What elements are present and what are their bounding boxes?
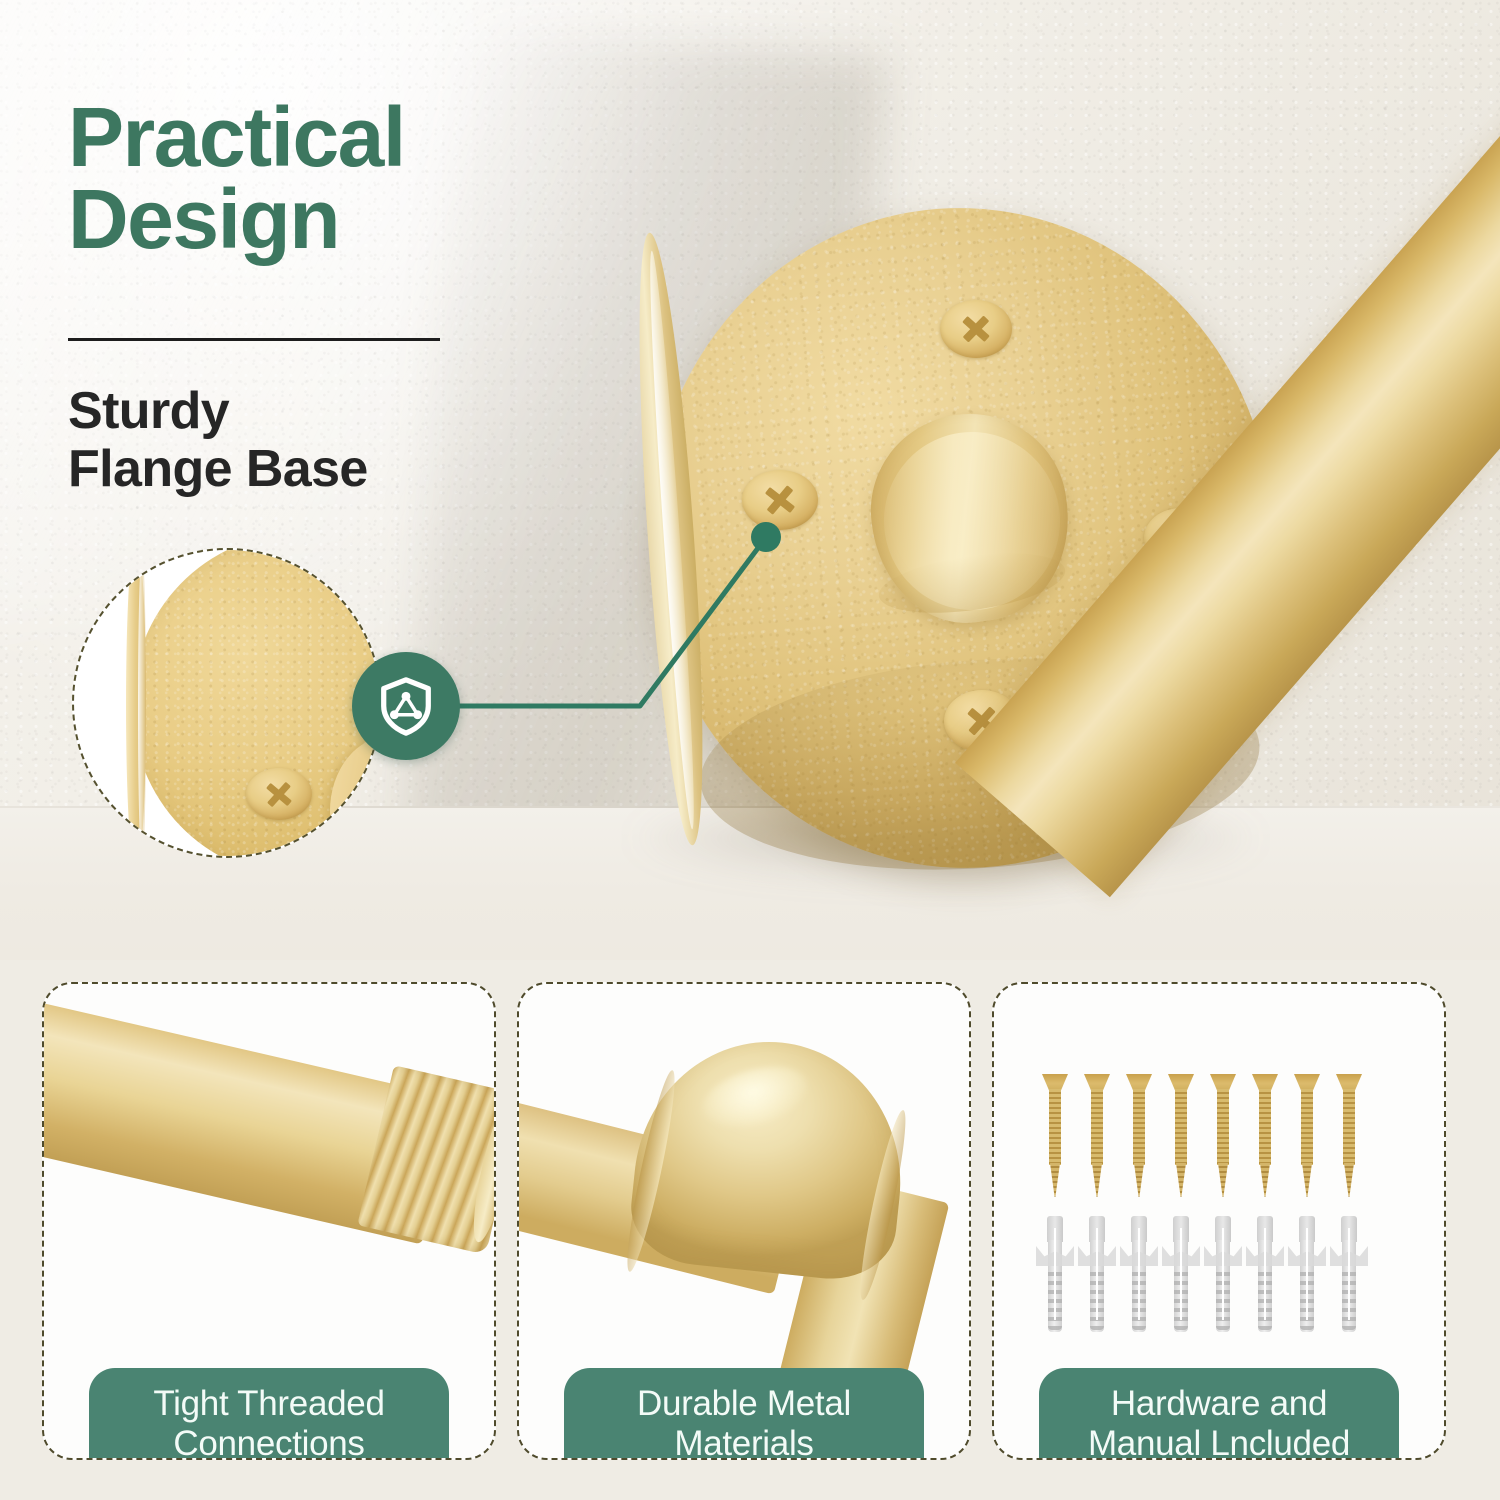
feature-label-materials: Durable Metal Materials <box>564 1368 924 1460</box>
screw-tip <box>1092 1163 1102 1197</box>
label-line-2: Connections <box>173 1424 364 1460</box>
hardware-screw <box>1294 1074 1320 1198</box>
screw-shaft <box>1259 1089 1271 1165</box>
screw-tip <box>1344 1163 1354 1197</box>
feature-card-materials[interactable]: Durable Metal Materials <box>517 982 971 1460</box>
anchor-slot <box>1222 1228 1224 1320</box>
product-infographic: Practical Design Sturdy Flange Base <box>0 0 1500 1500</box>
hardware-screw <box>1084 1074 1110 1198</box>
hardware-screw <box>1126 1074 1152 1198</box>
flange-screw-left <box>742 470 818 530</box>
screw-shaft <box>1049 1089 1061 1165</box>
wall-anchor <box>1294 1216 1320 1332</box>
wall-anchor <box>1336 1216 1362 1332</box>
anchor-slot <box>1096 1228 1098 1320</box>
label-line-1: Tight Threaded <box>153 1384 384 1423</box>
screw-shaft <box>1175 1089 1187 1165</box>
hardware-screw <box>1042 1074 1068 1198</box>
shield-outline <box>384 680 429 733</box>
inset-screw <box>246 768 312 820</box>
screw-shaft <box>1301 1089 1313 1165</box>
screw-tip <box>1176 1163 1186 1197</box>
screw-tip <box>1302 1163 1312 1197</box>
feature-label-hardware: Hardware and Manual Lncluded <box>1039 1368 1399 1460</box>
wall-anchor <box>1168 1216 1194 1332</box>
anchor-slot <box>1138 1228 1140 1320</box>
screw-tip <box>1260 1163 1270 1197</box>
label-line-1: Hardware and <box>1111 1384 1327 1423</box>
anchor-slot <box>1264 1228 1266 1320</box>
label-line-2: Manual Lncluded <box>1088 1424 1350 1460</box>
screw-tip <box>1050 1163 1060 1197</box>
screw-shaft <box>1133 1089 1145 1165</box>
hero-section: Practical Design Sturdy Flange Base <box>0 0 1500 960</box>
feature-label-threaded: Tight Threaded Connections <box>89 1368 449 1460</box>
inset-edge-highlight <box>138 552 146 858</box>
flange-screw-top <box>940 300 1012 358</box>
hardware-screw <box>1168 1074 1194 1198</box>
hardware-screw <box>1336 1074 1362 1198</box>
node-left <box>390 710 399 719</box>
anchor-row <box>1042 1216 1362 1332</box>
wall-anchor <box>1084 1216 1110 1332</box>
feature-card-hardware[interactable]: Hardware and Manual Lncluded <box>992 982 1446 1460</box>
wall-anchor <box>1210 1216 1236 1332</box>
node-top <box>402 692 411 701</box>
screw-shaft <box>1217 1089 1229 1165</box>
label-line-2: Materials <box>674 1424 813 1460</box>
wall-anchor <box>1126 1216 1152 1332</box>
anchor-slot <box>1306 1228 1308 1320</box>
screw-shaft <box>1091 1089 1103 1165</box>
feature-card-threaded[interactable]: Tight Threaded Connections <box>42 982 496 1460</box>
screw-tip <box>1218 1163 1228 1197</box>
shield-network-glyph <box>375 675 437 737</box>
screw-tip <box>1134 1163 1144 1197</box>
hardware-screw <box>1252 1074 1278 1198</box>
screw-row <box>1042 1074 1362 1198</box>
magnified-detail-inset <box>72 548 382 858</box>
anchor-slot <box>1180 1228 1182 1320</box>
wall-anchor <box>1042 1216 1068 1332</box>
anchor-slot <box>1348 1228 1350 1320</box>
anchor-slot <box>1054 1228 1056 1320</box>
screw-shaft <box>1343 1089 1355 1165</box>
wall-anchor <box>1252 1216 1278 1332</box>
node-right <box>413 710 422 719</box>
label-line-1: Durable Metal <box>637 1384 851 1423</box>
feature-panels: Tight Threaded Connections Durable Metal… <box>0 960 1500 1500</box>
shield-network-icon <box>352 652 460 760</box>
hardware-screw <box>1210 1074 1236 1198</box>
